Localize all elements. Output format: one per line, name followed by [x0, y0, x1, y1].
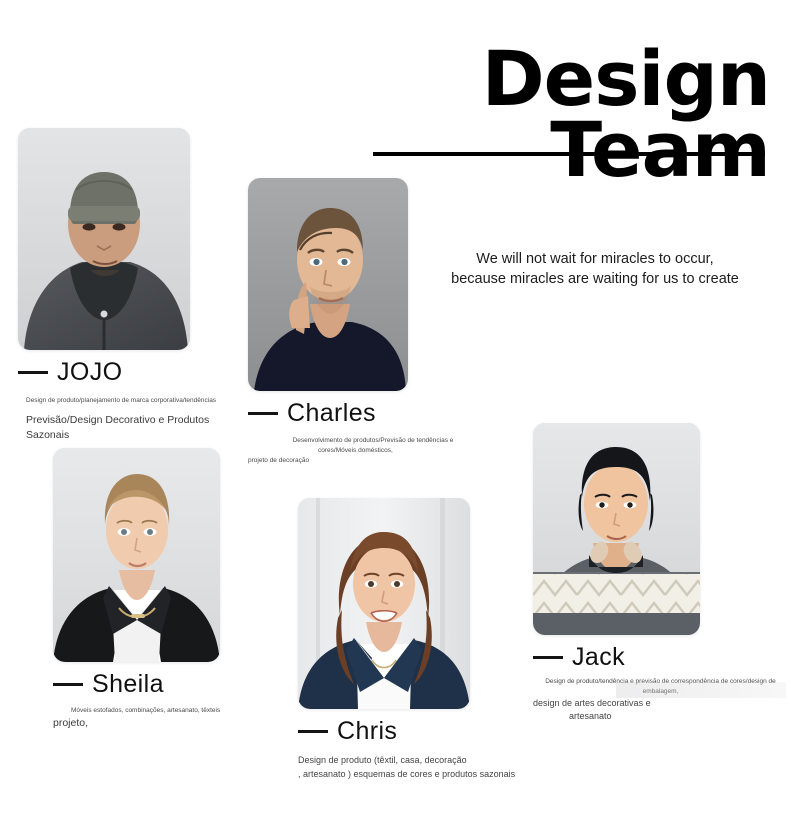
member-desc-sheila-line1: Móveis estofados, combinações, artesanat…: [53, 706, 303, 716]
member-name-charles: Charles: [287, 399, 376, 428]
name-dash-icon: [18, 371, 48, 374]
member-desc-chris-line2: , artesanato ) esquemas de cores e produ…: [298, 768, 553, 782]
member-desc-chris-line1: Design de produto (têxtil, casa, decoraç…: [298, 754, 553, 768]
member-photo-sheila: [53, 448, 220, 662]
member-card-jack[interactable]: Jack Design de produto/tendência e previ…: [533, 423, 788, 724]
title-line-team: Team: [370, 115, 770, 186]
member-card-chris[interactable]: Chris Design de produto (têxtil, casa, d…: [298, 498, 553, 781]
member-photo-chris: [298, 498, 470, 709]
member-name-row-jack: Jack: [533, 643, 788, 672]
name-dash-icon: [298, 730, 328, 733]
portrait-illustration-sheila: [53, 448, 220, 662]
member-card-jojo[interactable]: JOJO Design de produto/planejamento de m…: [18, 128, 248, 443]
member-card-sheila[interactable]: Sheila Móveis estofados, combinações, ar…: [53, 448, 303, 731]
member-desc-jojo-line2: Previsão/Design Decorativo e Produtos Sa…: [18, 413, 248, 443]
member-card-charles[interactable]: Charles Desenvolvimento de produtos/Prev…: [248, 178, 498, 465]
portrait-illustration-jack: [533, 423, 700, 635]
name-dash-icon: [248, 412, 278, 415]
member-photo-jack: [533, 423, 700, 635]
portrait-illustration-charles: [248, 178, 408, 391]
title-divider-rule: [373, 152, 765, 156]
member-name-sheila: Sheila: [92, 670, 164, 699]
member-name-jack: Jack: [572, 643, 625, 672]
member-desc-sheila: Móveis estofados, combinações, artesanat…: [53, 706, 303, 731]
design-team-poster: Design Team We will not wait for miracle…: [0, 0, 790, 835]
member-name-chris: Chris: [337, 717, 397, 746]
member-name-row-sheila: Sheila: [53, 670, 303, 699]
member-desc-jack-line3: design de artes decorativas e: [533, 697, 788, 711]
poster-title: Design Team: [370, 44, 770, 185]
name-dash-icon: [533, 656, 563, 659]
member-desc-sheila-line2: projeto,: [53, 716, 303, 731]
member-photo-charles: [248, 178, 408, 391]
member-desc-charles-line1: Desenvolvimento de produtos/Previsão de …: [248, 436, 498, 446]
member-name-row-charles: Charles: [248, 399, 498, 428]
portrait-illustration-jojo: [18, 128, 190, 350]
member-desc-jack-line4: artesanato: [533, 710, 788, 724]
member-desc-jojo-line1: Design de produto/planejamento de marca …: [18, 396, 248, 406]
member-photo-jojo: [18, 128, 190, 350]
name-dash-icon: [53, 683, 83, 686]
member-name-jojo: JOJO: [57, 358, 123, 387]
member-name-row-jojo: JOJO: [18, 358, 248, 387]
background-watermark-artifact: [616, 682, 786, 698]
member-name-row-chris: Chris: [298, 717, 553, 746]
portrait-illustration-chris: [298, 498, 470, 709]
member-desc-chris: Design de produto (têxtil, casa, decoraç…: [298, 754, 553, 781]
